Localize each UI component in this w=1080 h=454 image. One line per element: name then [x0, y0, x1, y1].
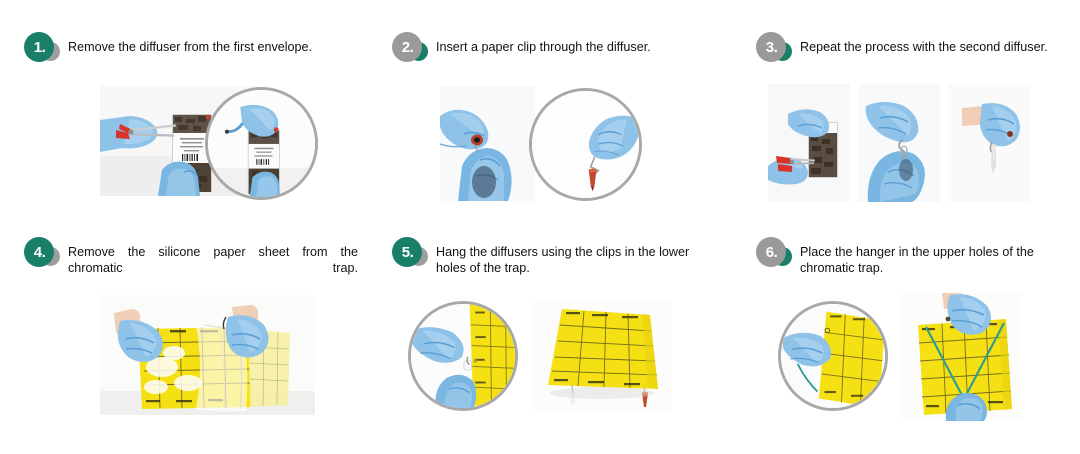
- step-4-badge: 4.: [24, 237, 68, 267]
- step-1-number: 1.: [24, 32, 54, 62]
- scene-detail-envelope: [208, 90, 315, 197]
- step-1-badge: 1.: [24, 32, 68, 62]
- scene-trap-diffusers: [532, 301, 672, 411]
- step-4-caption: Remove the silicone paper sheet from the…: [68, 241, 358, 292]
- photo-detail-envelope-opened: [205, 87, 318, 200]
- step-5-number: 5.: [392, 237, 422, 267]
- step-3-header: 3. Repeat the process with the second di…: [756, 0, 1080, 62]
- step-2-media: [360, 86, 720, 201]
- step-5-media: [360, 297, 720, 411]
- step-6-caption: Place the hanger in the upper holes of t…: [800, 241, 1080, 276]
- step-2-caption: Insert a paper clip through the diffuser…: [436, 36, 651, 55]
- photo-trap-with-hanger: [902, 293, 1022, 421]
- step-6-header: 6. Place the hanger in the upper holes o…: [756, 205, 1080, 276]
- step-1: 1. Remove the diffuser from the first en…: [0, 0, 360, 205]
- step-2-badge: 2.: [392, 32, 436, 62]
- instruction-sheet: 1. Remove the diffuser from the first en…: [0, 0, 1080, 454]
- step-6-number: 6.: [756, 237, 786, 267]
- step-5-caption: Hang the diffusers using the clips in th…: [436, 241, 720, 276]
- steps-grid: 1. Remove the diffuser from the first en…: [0, 0, 1080, 454]
- scene-diffuser-held: [948, 84, 1030, 202]
- step-3-number: 3.: [756, 32, 786, 62]
- scene-peel-sheet: [100, 295, 315, 415]
- step-3: 3. Repeat the process with the second di…: [720, 0, 1080, 205]
- step-3-media: [768, 84, 1080, 202]
- scene-trap-hanger: [902, 293, 1022, 421]
- step-1-header: 1. Remove the diffuser from the first en…: [24, 0, 360, 62]
- photo-cut-second-envelope: [768, 84, 850, 202]
- photo-hands-inserting-clip: [440, 86, 535, 201]
- step-4-number: 4.: [24, 237, 54, 267]
- step-1-caption: Remove the diffuser from the first envel…: [68, 36, 312, 55]
- scene-hanger-hole-detail: [781, 304, 885, 408]
- scene-insert-clip: [440, 86, 535, 201]
- step-1-media: [0, 86, 360, 200]
- step-6-badge: 6.: [756, 237, 800, 267]
- step-5-header: 5. Hang the diffusers using the clips in…: [392, 205, 720, 276]
- step-5: 5. Hang the diffusers using the clips in…: [360, 205, 720, 410]
- photo-trap-with-diffusers: [532, 301, 672, 411]
- photo-detail-hanger-hole: [778, 301, 888, 411]
- photo-peeling-silicone-sheet: [100, 295, 315, 415]
- step-2-number: 2.: [392, 32, 422, 62]
- scene-clipping-detail: [411, 304, 515, 408]
- step-6: 6. Place the hanger in the upper holes o…: [720, 205, 1080, 410]
- step-2: 2. Insert a paper clip through the diffu…: [360, 0, 720, 205]
- step-5-badge: 5.: [392, 237, 436, 267]
- scene-cut-second: [768, 84, 850, 202]
- photo-detail-clip-in-diffuser: [529, 88, 642, 201]
- step-3-badge: 3.: [756, 32, 800, 62]
- photo-second-diffuser-held: [948, 84, 1030, 202]
- photo-insert-second-clip: [858, 84, 940, 202]
- step-2-header: 2. Insert a paper clip through the diffu…: [392, 0, 720, 62]
- step-4-header: 4. Remove the silicone paper sheet from …: [24, 205, 360, 292]
- step-6-media: [720, 297, 1080, 421]
- step-4-media: [0, 295, 360, 415]
- scene-second-clip: [858, 84, 940, 202]
- scene-detail-clip: [532, 91, 639, 198]
- step-4: 4. Remove the silicone paper sheet from …: [0, 205, 360, 410]
- step-3-caption: Repeat the process with the second diffu…: [800, 36, 1048, 55]
- photo-detail-clipping-diffuser: [408, 301, 518, 411]
